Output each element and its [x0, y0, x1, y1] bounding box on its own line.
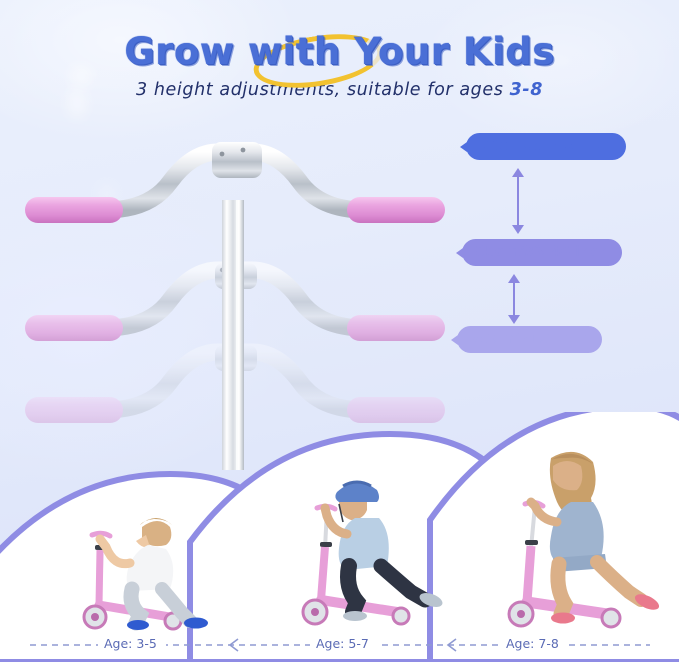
helmet — [335, 482, 379, 502]
age-range-scale: Age: 3-5 Age: 5-7 Age: 7-8 — [0, 634, 679, 654]
height-badge-85cm: 85cm/33.46 inch — [462, 239, 622, 266]
age-label-7-8: Age: 7-8 — [506, 634, 559, 654]
kid-photo-age-7-8 — [495, 440, 679, 635]
height-arrow-85-to-79 — [508, 274, 520, 324]
header: Grow with Your Kids 3 height adjustments… — [0, 30, 679, 100]
kid-photo-age-5-7 — [285, 470, 475, 635]
height-arrow-90-to-85 — [512, 168, 524, 234]
product-infographic: Grow with Your Kids 3 height adjustments… — [0, 0, 679, 662]
handlebar-grip-left — [25, 197, 123, 223]
height-badge-79cm: 79cm/31.1inch — [457, 326, 602, 353]
handlebar-clamp — [212, 142, 262, 178]
page-title: Grow with Your Kids — [0, 30, 679, 73]
age-label-5-7: Age: 5-7 — [316, 634, 369, 654]
page-subtitle: 3 height adjustments, suitable for ages … — [0, 80, 679, 100]
handlebar-grip-right — [347, 197, 445, 223]
denim-outfit — [550, 502, 604, 562]
child-3 — [531, 452, 661, 624]
height-badge-90cm: 90cm/35.43 inch — [466, 133, 626, 160]
subtitle-age-range: 3-8 — [510, 80, 543, 100]
age-label-3-5: Age: 3-5 — [104, 634, 157, 654]
kid-photo-age-3-5 — [70, 505, 260, 635]
